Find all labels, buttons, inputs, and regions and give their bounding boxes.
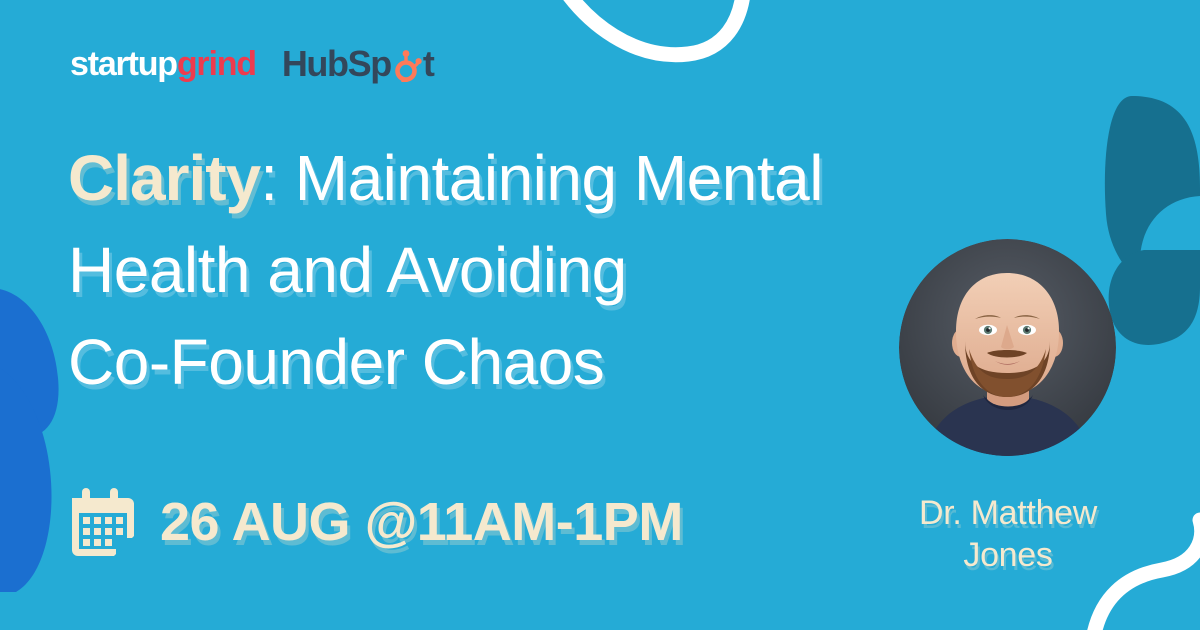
event-title-line-1: Clarity: Maintaining Mental (68, 132, 1128, 224)
event-banner: startupgrind HubSp t Clarity: Maintainin… (0, 0, 1200, 630)
hubspot-logo[interactable]: HubSp t (282, 46, 434, 82)
event-date-time: 26 AUG @11AM-1PM (160, 495, 683, 549)
squiggle-top (556, 0, 744, 55)
hubspot-text-after: t (423, 46, 434, 82)
event-title-line-1-rest: : Maintaining Mental (260, 142, 823, 214)
startupgrind-logo[interactable]: startupgrind (70, 47, 256, 81)
event-date-row: 26 AUG @11AM-1PM (62, 484, 683, 560)
calendar-icon (62, 484, 138, 560)
startupgrind-startup-text: startup (70, 45, 177, 83)
logo-row: startupgrind HubSp t (70, 40, 433, 88)
blue-blob-left (0, 288, 59, 592)
hubspot-text-before: HubSp (282, 46, 391, 82)
speaker-headshot (899, 239, 1116, 456)
startupgrind-grind-text: grind (177, 45, 256, 83)
event-title-accent-word: Clarity (68, 142, 260, 214)
speaker-name-line-2: Jones (880, 534, 1136, 576)
speaker-name: Dr. Matthew Jones (880, 492, 1136, 576)
hubspot-sprocket-icon (392, 48, 422, 82)
speaker-name-line-1: Dr. Matthew (880, 492, 1136, 534)
